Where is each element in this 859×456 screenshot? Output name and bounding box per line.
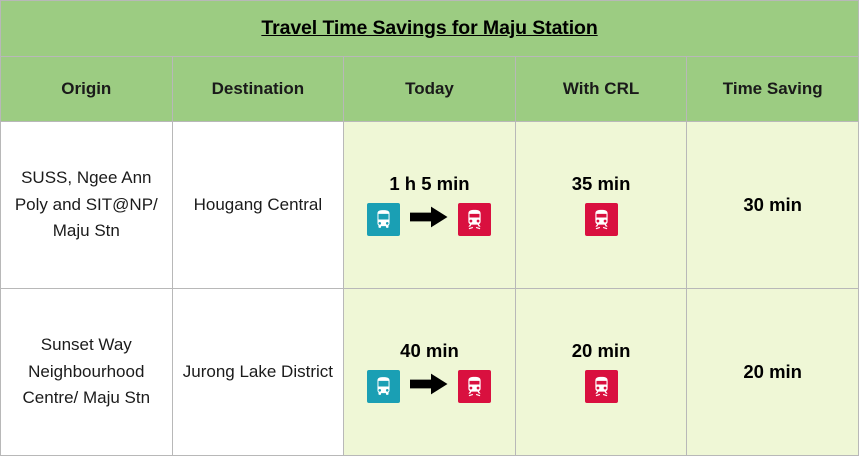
travel-time-savings-table-container: Travel Time Savings for Maju Station Ori… xyxy=(0,0,859,451)
today-duration: 40 min xyxy=(400,341,459,361)
with-crl-block: 20 min xyxy=(516,341,687,403)
table-header-row: Origin Destination Today With CRL Time S… xyxy=(1,57,859,122)
bus-icon xyxy=(367,203,400,236)
with-crl-mode-icons xyxy=(585,370,618,403)
train-icon xyxy=(585,370,618,403)
today-duration: 1 h 5 min xyxy=(389,174,469,194)
destination-text: Hougang Central xyxy=(173,192,344,218)
cell-today: 40 min xyxy=(344,289,516,456)
table-title-cell: Travel Time Savings for Maju Station xyxy=(1,1,859,57)
today-block: 1 h 5 min xyxy=(344,174,515,236)
page-title: Travel Time Savings for Maju Station xyxy=(261,18,597,39)
column-header-time-saving-label: Time Saving xyxy=(723,79,823,99)
table-row: Sunset Way Neighbourhood Centre/ Maju St… xyxy=(1,289,859,456)
with-crl-duration: 20 min xyxy=(572,341,631,361)
origin-text: Sunset Way Neighbourhood Centre/ Maju St… xyxy=(1,332,172,411)
with-crl-mode-icons xyxy=(585,203,618,236)
table-row: SUSS, Ngee Ann Poly and SIT@NP/ Maju Stn… xyxy=(1,122,859,289)
cell-origin: SUSS, Ngee Ann Poly and SIT@NP/ Maju Stn xyxy=(1,122,173,289)
cell-with-crl: 20 min xyxy=(515,289,687,456)
arrow-right-icon xyxy=(410,373,448,400)
column-header-with-crl-label: With CRL xyxy=(563,79,639,99)
today-block: 40 min xyxy=(344,341,515,403)
train-icon xyxy=(585,203,618,236)
today-mode-icons xyxy=(367,203,491,236)
today-mode-icons xyxy=(367,370,491,403)
column-header-today: Today xyxy=(344,57,516,122)
arrow-right-icon xyxy=(410,206,448,233)
cell-destination: Hougang Central xyxy=(172,122,344,289)
column-header-destination: Destination xyxy=(172,57,344,122)
travel-time-savings-table: Travel Time Savings for Maju Station Ori… xyxy=(0,0,859,456)
cell-origin: Sunset Way Neighbourhood Centre/ Maju St… xyxy=(1,289,173,456)
with-crl-duration: 35 min xyxy=(572,174,631,194)
table-title-row: Travel Time Savings for Maju Station xyxy=(1,1,859,57)
cell-today: 1 h 5 min xyxy=(344,122,516,289)
destination-text: Jurong Lake District xyxy=(173,359,344,385)
column-header-today-label: Today xyxy=(405,79,454,99)
cell-destination: Jurong Lake District xyxy=(172,289,344,456)
column-header-origin: Origin xyxy=(1,57,173,122)
cell-time-saving: 20 min xyxy=(687,289,859,456)
time-saving-value: 20 min xyxy=(743,361,802,382)
time-saving-value: 30 min xyxy=(743,194,802,215)
cell-time-saving: 30 min xyxy=(687,122,859,289)
train-icon xyxy=(458,370,491,403)
column-header-time-saving: Time Saving xyxy=(687,57,859,122)
with-crl-block: 35 min xyxy=(516,174,687,236)
origin-text: SUSS, Ngee Ann Poly and SIT@NP/ Maju Stn xyxy=(1,165,172,244)
bus-icon xyxy=(367,370,400,403)
column-header-with-crl: With CRL xyxy=(515,57,687,122)
column-header-destination-label: Destination xyxy=(212,79,305,99)
cell-with-crl: 35 min xyxy=(515,122,687,289)
column-header-origin-label: Origin xyxy=(61,79,111,99)
train-icon xyxy=(458,203,491,236)
